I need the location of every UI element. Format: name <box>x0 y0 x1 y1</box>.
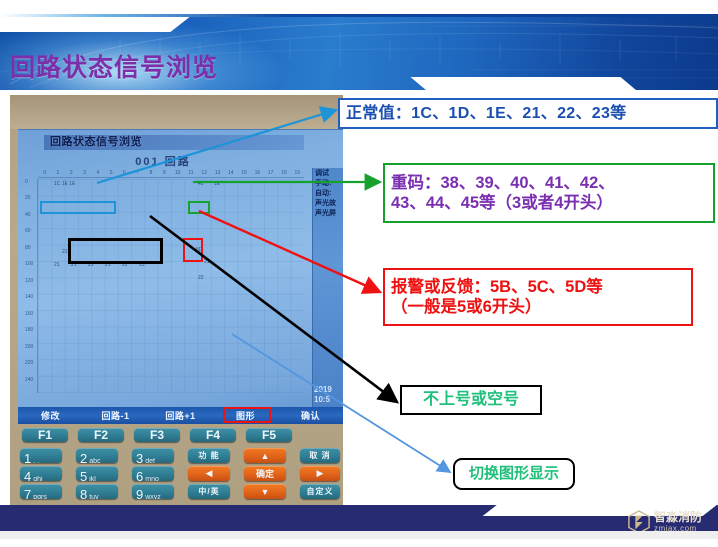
page-title: 回路状态信号浏览 <box>0 46 330 86</box>
key-num-9[interactable]: 9wxyz <box>132 484 174 499</box>
key-letters: abc <box>89 458 100 463</box>
callout-switch-graph: 切换图形显示 <box>453 458 575 490</box>
panel-status-item: 调试 <box>313 168 343 178</box>
grid-column-header: 12 <box>198 168 211 177</box>
grid-row-header: 160 <box>24 311 37 327</box>
grid-column-header: 9 <box>158 168 171 177</box>
arrow-down-icon: ▼ <box>261 487 270 497</box>
key-digit: 7 <box>24 487 31 499</box>
panel-status-item: 声光屏 <box>313 208 343 218</box>
key-label: F1 <box>38 428 52 442</box>
key-label: F3 <box>150 428 164 442</box>
grid-column-header: 7 <box>131 168 144 177</box>
fire-panel-photo: 回路状态信号浏览 001 回路 012345678910111213141516… <box>10 95 343 507</box>
grid-column-header: 4 <box>91 168 104 177</box>
grid-cell-value: 22 <box>198 275 204 281</box>
key-digit: 4 <box>24 469 31 481</box>
grid-column-header: 16 <box>251 168 264 177</box>
key-letters: ghi <box>33 476 42 481</box>
grid-row-header: 120 <box>24 278 37 294</box>
callout-alarm-line1: 报警或反馈：5B、5C、5D等 <box>391 277 603 297</box>
callout-normal-text: 正常值：1C、1D、1E、21、22、23等 <box>346 104 626 124</box>
arrow-right-icon: ▶ <box>317 468 324 479</box>
callout-alarm-line2: （一般是5或6开头） <box>391 297 603 317</box>
panel-status-item: 手动: <box>313 178 343 188</box>
arrow-up-icon: ▲ <box>261 451 270 461</box>
highlight-duplicate-code <box>188 201 210 214</box>
key-f5[interactable]: F5 <box>246 428 292 442</box>
key-num-8[interactable]: 8tuv <box>76 484 118 499</box>
panel-clock-time: 10:5 <box>314 395 343 405</box>
callout-duplicate-line1: 重码：38、39、40、41、42、 <box>391 173 615 193</box>
grid-column-headers: 012345678910111213141516171819 <box>38 168 304 178</box>
key-f1[interactable]: F1 <box>22 428 68 442</box>
grid-row-header: 20 <box>24 195 37 211</box>
key-f2[interactable]: F2 <box>78 428 124 442</box>
key-num-3[interactable]: 3def <box>132 448 174 463</box>
logo-name-cn: 智淼消防 <box>654 511 702 523</box>
grid-cell-value: 21 <box>54 262 60 268</box>
grid-column-header: 0 <box>38 168 51 177</box>
panel-status-item: 声光故 <box>313 198 343 208</box>
key-cancel[interactable]: 取 消 <box>300 448 340 463</box>
arrow-left-icon: ◀ <box>206 468 213 479</box>
key-label: F5 <box>262 428 276 442</box>
key-label: F4 <box>206 428 220 442</box>
grid-column-header: 10 <box>171 168 184 177</box>
grid-cell-value: 42 <box>198 181 204 187</box>
callout-duplicate-line2: 43、44、45等（3或者4开头） <box>391 193 615 213</box>
banner-top-line <box>0 14 718 17</box>
grid-column-header: 5 <box>104 168 117 177</box>
key-arrow-right[interactable]: ▶ <box>300 466 340 481</box>
key-letters: . , <box>33 458 39 463</box>
panel-screen-title: 回路状态信号浏览 <box>44 135 304 150</box>
highlight-alarm-code <box>183 238 203 262</box>
highlight-normal-values <box>40 201 116 214</box>
panel-screen: 回路状态信号浏览 001 回路 012345678910111213141516… <box>18 129 343 424</box>
grid-column-header: 17 <box>264 168 277 177</box>
callout-empty-text: 不上号或空号 <box>423 390 519 410</box>
panel-softkey-确认[interactable]: 确认 <box>278 409 343 422</box>
key-digit: 2 <box>80 451 87 463</box>
grid-cell-value: 21 <box>204 259 210 265</box>
panel-status-list: 调试手动:自动:声光故声光屏 <box>312 168 343 408</box>
highlight-empty-code <box>68 238 163 264</box>
key-label: 确定 <box>256 467 274 480</box>
key-arrow-left[interactable]: ◀ <box>188 466 230 481</box>
key-language-toggle[interactable]: 中/英 <box>188 484 230 499</box>
grid-column-header: 14 <box>224 168 237 177</box>
key-num-6[interactable]: 6mno <box>132 466 174 481</box>
banner-bottom-wedge <box>410 77 639 90</box>
panel-softkey-回路+1[interactable]: 回路+1 <box>148 409 213 422</box>
key-digit: 3 <box>136 451 143 463</box>
key-arrow-down[interactable]: ▼ <box>244 484 286 499</box>
grid-column-header: 1 <box>51 168 64 177</box>
footer-bottom-strip <box>0 531 718 539</box>
callout-empty-code: 不上号或空号 <box>400 385 542 415</box>
key-letters: def <box>145 458 155 463</box>
grid-row-header: 200 <box>24 344 37 360</box>
key-num-2[interactable]: 2abc <box>76 448 118 463</box>
panel-softkey-bar[interactable]: 修改回路-1回路+1图形确认 <box>18 407 343 424</box>
grid-cell-value: 21 <box>62 249 68 255</box>
key-num-4[interactable]: 4ghi <box>20 466 62 481</box>
grid-row-header: 100 <box>24 261 37 277</box>
grid-row-header: 240 <box>24 377 37 393</box>
panel-clock: 2019 10:5 <box>312 385 343 405</box>
grid-column-header: 18 <box>277 168 290 177</box>
key-label: 取 消 <box>309 450 330 461</box>
key-label: 中/英 <box>198 486 219 497</box>
callout-alarm-codes: 报警或反馈：5B、5C、5D等 （一般是5或6开头） <box>383 268 693 326</box>
panel-softkey-修改[interactable]: 修改 <box>18 409 83 422</box>
grid-cell-value: 1C 1E 1E <box>54 181 75 187</box>
key-label: 功 能 <box>198 450 219 461</box>
key-letters: tuv <box>89 494 98 499</box>
grid-row-header: 40 <box>24 212 37 228</box>
key-digit: 5 <box>80 469 87 481</box>
key-confirm[interactable]: 确定 <box>244 466 286 481</box>
callout-switch-text: 切换图形显示 <box>469 465 559 483</box>
highlight-graph-button <box>223 407 271 423</box>
grid-column-header: 8 <box>144 168 157 177</box>
grid-row-header: 60 <box>24 228 37 244</box>
grid-row-header: 80 <box>24 245 37 261</box>
panel-bezel-top <box>10 95 343 129</box>
callout-duplicate-codes: 重码：38、39、40、41、42、 43、44、45等（3或者4开头） <box>383 163 715 223</box>
key-letters: pqrs <box>33 494 47 499</box>
grid-row-header: 220 <box>24 360 37 376</box>
panel-status-item: 自动: <box>313 188 343 198</box>
grid-column-header: 13 <box>211 168 224 177</box>
key-num-7[interactable]: 7pqrs <box>20 484 62 499</box>
grid-cell-value: 1E <box>214 181 220 187</box>
grid-column-header: 6 <box>118 168 131 177</box>
key-letters: jkl <box>89 476 96 481</box>
key-custom[interactable]: 自定义 <box>300 484 340 499</box>
key-function[interactable]: 功 能 <box>188 448 230 463</box>
key-label: F2 <box>94 428 108 442</box>
grid-row-headers: 020406080100120140160180200220240 <box>24 179 38 393</box>
key-digit: 8 <box>80 487 87 499</box>
key-num-1[interactable]: 1. , <box>20 448 62 463</box>
panel-loop-label: 001 回路 <box>18 153 308 169</box>
callout-normal-values: 正常值：1C、1D、1E、21、22、23等 <box>338 98 718 129</box>
grid-column-header: 3 <box>78 168 91 177</box>
key-digit: 6 <box>136 469 143 481</box>
key-digit: 9 <box>136 487 143 499</box>
panel-keypad[interactable]: F1F2F3F4F51. ,2abc3def4ghi5jkl6mno7pqrs8… <box>10 424 343 507</box>
grid-column-header: 19 <box>291 168 304 177</box>
key-arrow-up[interactable]: ▲ <box>244 448 286 463</box>
key-f4[interactable]: F4 <box>190 428 236 442</box>
slide-root: 回路状态信号浏览 回路状态信号浏览 001 回路 012345678910111… <box>0 0 718 547</box>
key-letters: mno <box>145 476 159 481</box>
grid-row-header: 180 <box>24 327 37 343</box>
grid-row-header: 140 <box>24 294 37 310</box>
footer-bar: 智淼消防 zmjax.com <box>0 505 718 539</box>
key-num-5[interactable]: 5jkl <box>76 466 118 481</box>
key-digit: 1 <box>24 451 31 463</box>
grid-column-header: 15 <box>237 168 250 177</box>
key-letters: wxyz <box>145 494 161 499</box>
page-title-text: 回路状态信号浏览 <box>0 48 218 84</box>
key-label: 自定义 <box>307 486 334 497</box>
key-f3[interactable]: F3 <box>134 428 180 442</box>
panel-softkey-回路-1[interactable]: 回路-1 <box>83 409 148 422</box>
grid-column-header: 11 <box>184 168 197 177</box>
logo-text: 智淼消防 zmjax.com <box>654 511 702 533</box>
grid-column-header: 2 <box>65 168 78 177</box>
panel-clock-date: 2019 <box>314 385 343 395</box>
grid-row-header: 0 <box>24 179 37 195</box>
